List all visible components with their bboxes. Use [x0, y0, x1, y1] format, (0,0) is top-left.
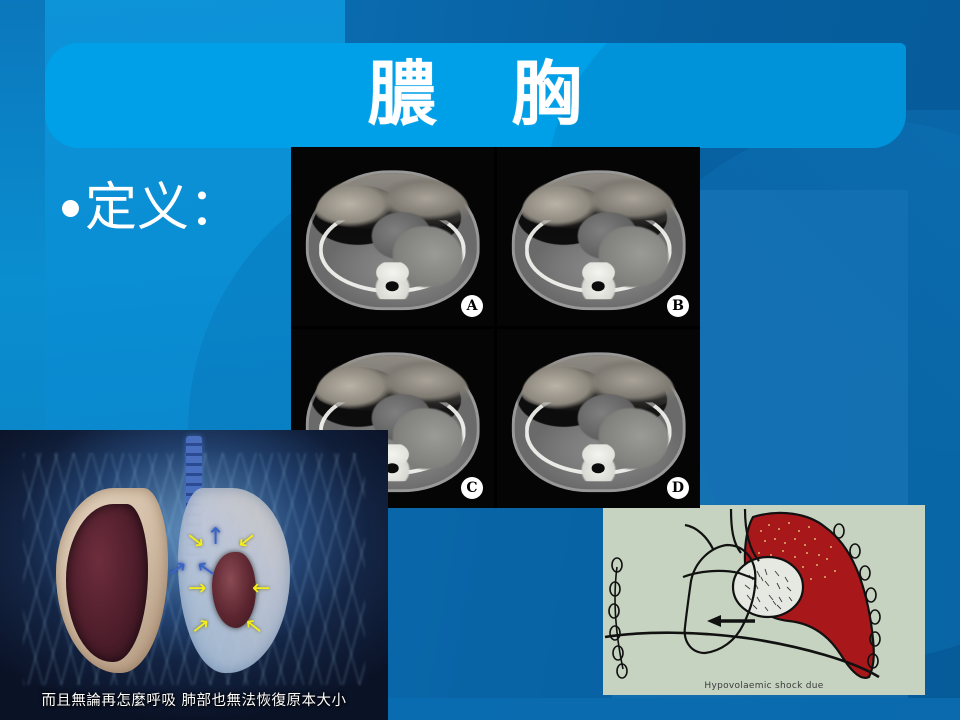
lung-illustration-caption: 而且無論再怎麼呼吸 肺部也無法恢復原本大小 — [0, 689, 388, 710]
ct-panel-label: C — [461, 477, 483, 499]
hypovolaemic-shock-diagram: Hypovolaemic shock due — [603, 505, 925, 695]
ct-thorax-outline — [511, 352, 686, 492]
background-diagonal-highlight — [660, 110, 960, 450]
speckled-nodule — [733, 557, 803, 617]
ct-thorax-outline — [511, 170, 686, 310]
ct-panel-label: B — [667, 295, 689, 317]
bullet-dot-icon — [62, 200, 79, 217]
ct-vertebra — [370, 262, 415, 298]
bullet-list-item: 定义： — [62, 182, 241, 234]
ct-panel-d: D — [497, 329, 700, 508]
ct-panel-a: A — [291, 147, 494, 326]
shock-diagram-caption: Hypovolaemic shock due — [603, 681, 925, 691]
page-title: 膿 胸 — [45, 43, 906, 148]
yellow-pressure-arrow-icon: → — [188, 578, 206, 600]
ct-vertebra — [576, 262, 621, 298]
ct-panel-label: A — [461, 295, 483, 317]
shock-diagram-svg — [603, 505, 925, 695]
background-left-wash — [0, 0, 48, 470]
bullet-item-label: 定义： — [85, 182, 241, 234]
yellow-pressure-arrow-icon: ← — [252, 578, 270, 600]
ct-thorax-outline — [305, 170, 480, 310]
ct-panel-b: B — [497, 147, 700, 326]
ct-vertebra — [576, 444, 621, 480]
title-banner: 膿 胸 — [45, 43, 906, 148]
lung-illustration: ↑ → ← → ← → ← → ← 而且無論再怎麼呼吸 肺部也無法恢復原本大小 — [0, 430, 388, 720]
ct-panel-label: D — [667, 477, 689, 499]
